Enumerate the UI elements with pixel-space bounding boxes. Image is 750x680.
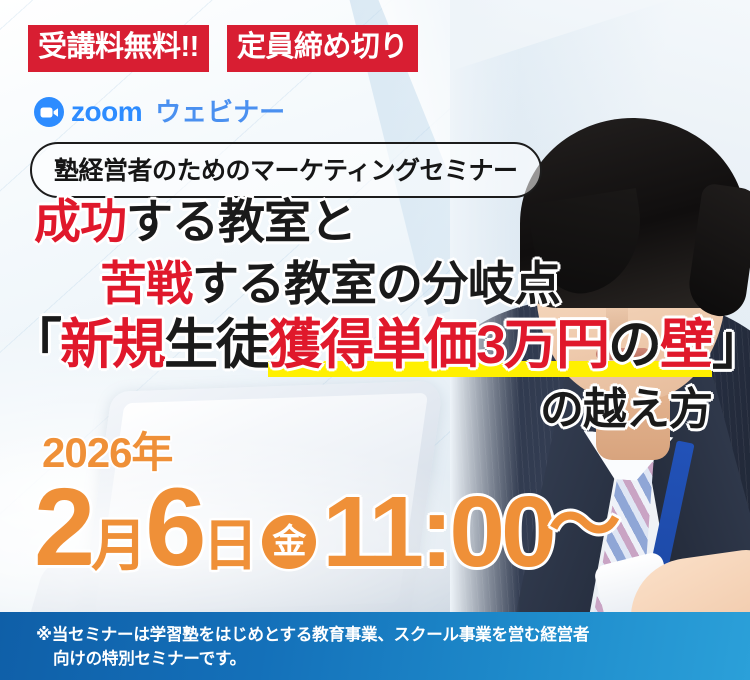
headline-line2-seg2: する教室の分岐点 <box>192 257 560 310</box>
event-month-number: 2 <box>34 478 91 577</box>
zoom-webinar-label: ウェビナー <box>155 99 285 125</box>
seminar-subtitle-pill: 塾経営者のためのマーケティングセミナー <box>30 142 542 198</box>
event-month-unit: 月 <box>91 521 145 577</box>
footer-note-line-2: 向けの特別セミナーです。 <box>36 648 728 672</box>
badge-limited-seats: 定員締め切り <box>227 25 418 72</box>
headline-line3-seg-new: 新規 <box>60 315 164 375</box>
seminar-banner: 受講料無料!! 定員締め切り zoom ウェビナー 塾経営者のためのマーケティン… <box>0 0 750 680</box>
event-day-unit: 日 <box>202 521 256 577</box>
headline-line-4: の越え方 <box>540 388 712 432</box>
badge-free-tuition: 受講料無料!! <box>28 25 209 72</box>
zoom-webinar-brand: zoom ウェビナー <box>34 97 285 127</box>
event-time-tilde: 〜 <box>549 494 621 577</box>
headline-line3-seg-wall: 壁 <box>660 315 712 377</box>
headline-line-1: 成功する教室と <box>34 198 356 245</box>
event-weekday-badge: 金 <box>262 515 316 569</box>
headline-line1-seg1: 成功 <box>34 195 126 248</box>
event-date-row: 2 月 6 日 金 11:00 〜 <box>34 478 621 577</box>
footer-note: ※当セミナーは学習塾をはじめとする教育事業、スクール事業を営む経営者 向けの特別… <box>0 612 750 680</box>
headline-line3-close-quote: 」 <box>712 315 750 375</box>
event-datetime: 2026年 2 月 6 日 金 11:00 〜 <box>34 432 621 577</box>
headline-line3-open-quote: 「 <box>8 315 60 375</box>
headline-line2-seg1: 苦戦 <box>100 257 192 310</box>
headline-line3-seg-no: の <box>608 315 660 377</box>
event-start-time: 11:00 <box>322 487 552 577</box>
zoom-video-camera-icon <box>34 97 64 127</box>
headline-line4-seg1: の越え方 <box>540 385 712 434</box>
headline-line-3: 「新規生徒獲得単価3万円の壁」 <box>8 318 750 372</box>
footer-note-line-1: ※当セミナーは学習塾をはじめとする教育事業、スクール事業を営む経営者 <box>36 624 728 648</box>
zoom-wordmark: zoom <box>71 98 142 126</box>
event-year: 2026年 <box>42 432 621 474</box>
headline-line-2: 苦戦する教室の分岐点 <box>100 260 560 307</box>
headline-line3-seg-student: 生徒 <box>164 315 268 375</box>
headline-line1-seg2: する教室と <box>126 195 356 248</box>
badge-row: 受講料無料!! 定員締め切り <box>28 25 418 72</box>
headline-line3-seg-cac: 獲得単価3万円 <box>268 315 608 377</box>
event-day-number: 6 <box>145 478 202 577</box>
